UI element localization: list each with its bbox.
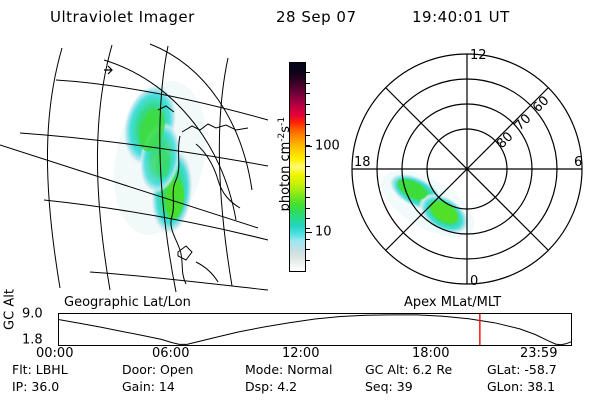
polar-mlt-label-0: 0	[470, 274, 478, 289]
orbit-x-tick-0600: 06:00	[152, 346, 189, 361]
status-flt: Flt: LBHL	[12, 362, 68, 377]
colorbar-gradient-box	[289, 62, 306, 272]
colorbar-tick-label-100: 100	[315, 139, 340, 154]
geographic-image-svg	[0, 40, 270, 295]
instrument-title: Ultraviolet Imager	[50, 8, 195, 26]
colorbar-minor-tick	[306, 218, 310, 219]
orbit-y-axis-label: GC Alt	[3, 282, 18, 338]
colorbar-minor-tick	[306, 156, 310, 157]
status-dsp: Dsp: 4.2	[245, 379, 297, 394]
colorbar-minor-tick	[306, 208, 310, 209]
polar-panel-title: Apex MLat/MLT	[404, 295, 501, 310]
polar-dial-panel[interactable]: 121860607080	[340, 42, 595, 297]
status-gain: Gain: 14	[122, 379, 175, 394]
colorbar-gradient	[290, 63, 305, 271]
header-bar: Ultraviolet Imager 28 Sep 07 19:40:01 UT	[0, 8, 600, 32]
status-gc-alt: GC Alt: 6.2 Re	[365, 362, 452, 377]
colorbar-tick-mark-0	[306, 146, 312, 147]
status-ip: IP: 36.0	[12, 379, 59, 394]
orbit-x-tick-2359: 23:59	[520, 346, 557, 361]
observation-date: 28 Sep 07	[276, 8, 356, 26]
colorbar-minor-tick	[306, 135, 310, 136]
colorbar-exp-2: -1	[277, 117, 287, 126]
polar-mlt-label-18: 18	[354, 155, 371, 170]
geo-panel-title: Geographic Lat/Lon	[64, 295, 191, 310]
orbit-x-tick-0000: 00:00	[36, 346, 73, 361]
orbit-altitude-panel[interactable]: Geographic Lat/Lon Apex MLat/MLT GC Alt …	[0, 296, 600, 358]
colorbar-minor-tick	[306, 197, 310, 198]
colorbar-minor-tick	[306, 166, 310, 167]
colorbar-exp-1: -2	[277, 133, 287, 142]
colorbar-minor-tick	[306, 249, 310, 250]
colorbar-minor-tick	[306, 187, 310, 188]
orbit-altitude-curve	[59, 315, 571, 345]
polar-dial-svg	[340, 42, 595, 297]
colorbar-minor-tick	[306, 260, 310, 261]
status-footer: Flt: LBHLDoor: OpenMode: NormalGC Alt: 6…	[0, 362, 600, 400]
colorbar-tick-mark-1	[306, 232, 312, 233]
orbit-x-tick-1800: 18:00	[412, 346, 449, 361]
orbit-plot-box	[58, 313, 572, 346]
polar-aurora-group	[371, 157, 485, 251]
status-door: Door: Open	[122, 362, 193, 377]
colorbar-minor-tick	[306, 83, 310, 84]
orbit-x-tick-1200: 12:00	[282, 346, 319, 361]
status-seq: Seq: 39	[365, 379, 413, 394]
polar-mlt-label-12: 12	[470, 48, 487, 63]
status-mode: Mode: Normal	[245, 362, 332, 377]
colorbar-minor-tick	[306, 124, 310, 125]
colorbar-minor-tick	[306, 176, 310, 177]
observation-time: 19:40:01 UT	[412, 8, 510, 26]
colorbar-minor-tick	[306, 145, 310, 146]
polar-mlt-label-6: 6	[574, 155, 582, 170]
geographic-image-panel[interactable]	[0, 40, 270, 295]
polar-spokes	[352, 54, 582, 284]
orbit-y-tick-9.0: 9.0	[22, 307, 43, 322]
status-glon: GLon: 38.1	[487, 379, 555, 394]
colorbar-minor-tick	[306, 228, 310, 229]
colorbar-minor-tick	[306, 93, 310, 94]
colorbar-tick-label-10: 10	[315, 224, 332, 239]
status-glat: GLat: -58.7	[487, 362, 557, 377]
colorbar-minor-tick	[306, 104, 310, 105]
orbit-plot-svg	[59, 314, 571, 345]
aurora-core-3	[156, 150, 170, 178]
colorbar-minor-tick	[306, 72, 310, 73]
colorbar-panel[interactable]: photon cm-2s-1 10010	[262, 52, 342, 292]
colorbar-minor-tick	[306, 114, 310, 115]
colorbar-minor-tick	[306, 239, 310, 240]
